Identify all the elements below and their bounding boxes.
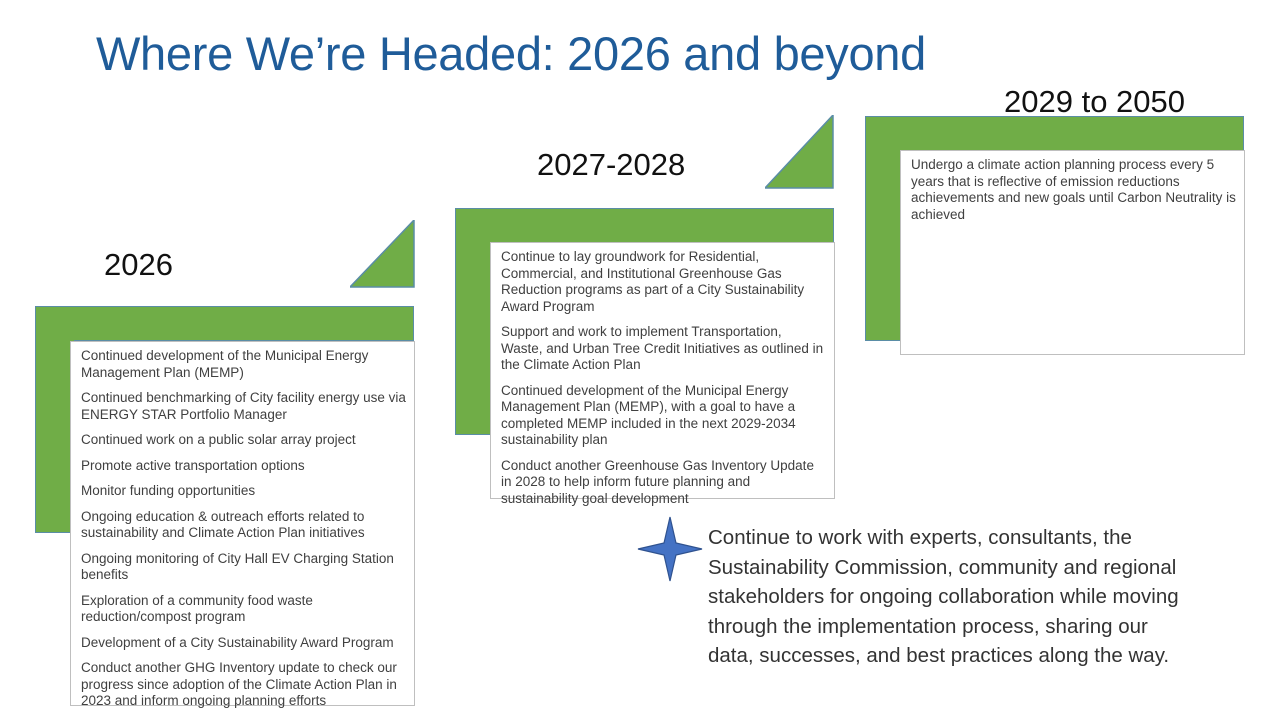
list-item: Continued development of the Municipal E… (81, 348, 406, 381)
list-item: Promote active transportation options (81, 458, 406, 475)
green-left-bar-2029-2050 (865, 150, 905, 341)
green-left-bar-2026 (35, 340, 75, 533)
list-item: Conduct another Greenhouse Gas Inventory… (501, 458, 826, 508)
bullet-box-2026: Continued development of the Municipal E… (70, 341, 415, 706)
bullet-box-2027-2028: Continue to lay groundwork for Residenti… (490, 242, 835, 499)
green-top-bar-2027-2028 (455, 208, 834, 243)
green-top-bar-2029-2050 (865, 116, 1244, 151)
closing-note: Continue to work with experts, consultan… (708, 523, 1198, 671)
list-item: Conduct another GHG Inventory update to … (81, 660, 406, 710)
list-item: Ongoing monitoring of City Hall EV Charg… (81, 551, 406, 584)
list-item: Continued benchmarking of City facility … (81, 390, 406, 423)
closing-note-text: Continue to work with experts, consultan… (708, 523, 1198, 671)
list-item: Continued development of the Municipal E… (501, 383, 826, 449)
year-heading-2026: 2026 (104, 246, 173, 284)
list-item: Continued work on a public solar array p… (81, 432, 406, 449)
bullet-box-2029-2050: Undergo a climate action planning proces… (900, 150, 1245, 355)
green-corner-triangle-2027-2028 (765, 115, 834, 189)
green-left-bar-2027-2028 (455, 242, 495, 435)
list-item: Support and work to implement Transporta… (501, 324, 826, 374)
green-corner-triangle-2026 (350, 220, 415, 288)
year-heading-2027-2028: 2027-2028 (537, 146, 685, 184)
list-item: Development of a City Sustainability Awa… (81, 635, 406, 652)
list-item: Exploration of a community food waste re… (81, 593, 406, 626)
list-item: Undergo a climate action planning proces… (911, 157, 1236, 223)
four-point-star-icon (634, 513, 706, 585)
green-top-bar-2026 (35, 306, 414, 341)
list-item: Monitor funding opportunities (81, 483, 406, 500)
list-item: Continue to lay groundwork for Residenti… (501, 249, 826, 315)
list-item: Ongoing education & outreach efforts rel… (81, 509, 406, 542)
slide-canvas: Where We’re Headed: 2026 and beyond 2029… (0, 0, 1280, 720)
page-title: Where We’re Headed: 2026 and beyond (96, 24, 1186, 84)
